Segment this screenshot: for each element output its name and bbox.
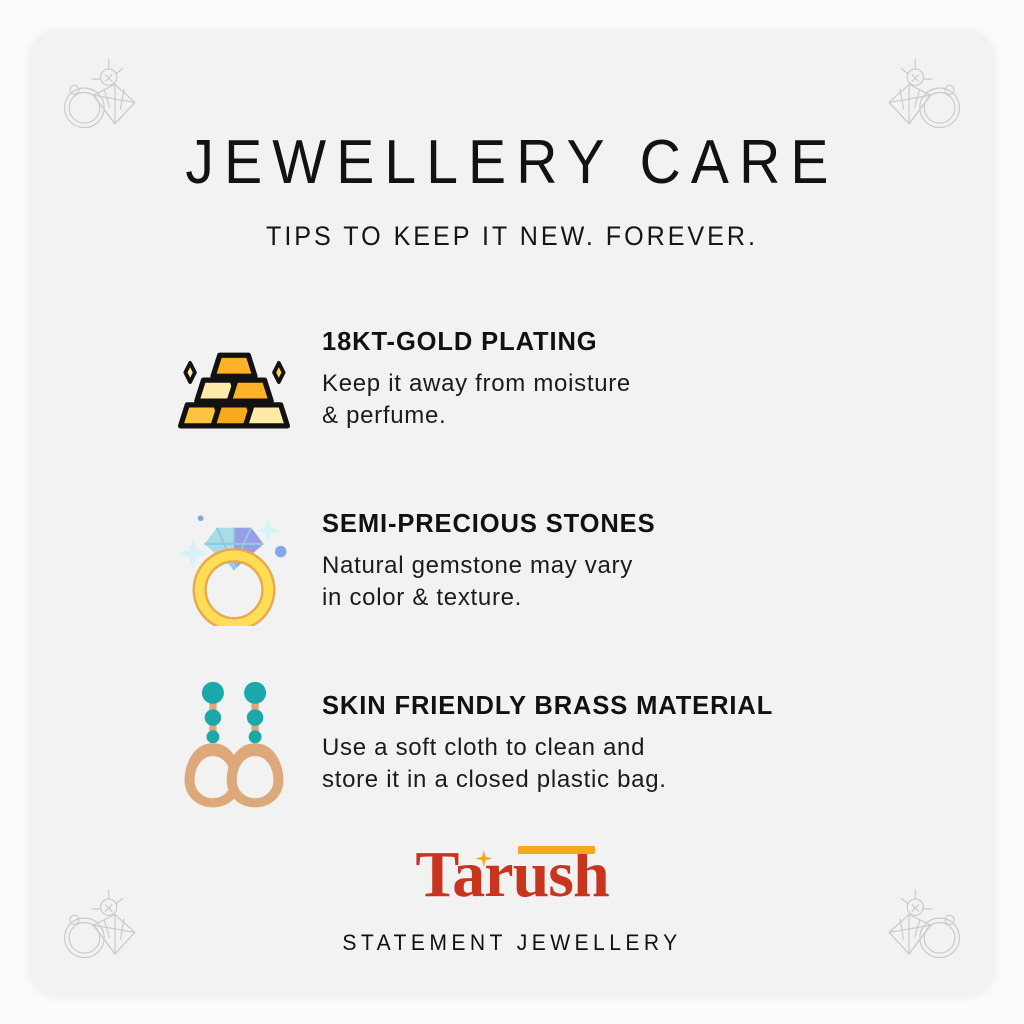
brand-tagline: STATEMENT JEWELLERY [49, 930, 974, 956]
brand-logo: Tarush [415, 842, 608, 908]
corner-ornament-top-left [52, 52, 142, 142]
corner-ornament-top-right [882, 52, 972, 142]
header: JEWELLERY CARE TIPS TO KEEP IT NEW. FORE… [30, 130, 994, 252]
list-item: 18KT-GOLD PLATING Keep it away from mois… [168, 322, 958, 442]
tips-list: 18KT-GOLD PLATING Keep it away from mois… [168, 322, 958, 868]
infographic-card: JEWELLERY CARE TIPS TO KEEP IT NEW. FORE… [30, 30, 994, 994]
footer: Tarush STATEMENT JEWELLERY [30, 842, 994, 956]
tip-text: SEMI-PRECIOUS STONES Natural gemstone ma… [300, 504, 656, 613]
tip-title: SKIN FRIENDLY BRASS MATERIAL [322, 692, 773, 721]
tip-body: Keep it away from moisture & perfume. [322, 368, 631, 431]
tip-text: 18KT-GOLD PLATING Keep it away from mois… [300, 322, 631, 431]
list-item: SKIN FRIENDLY BRASS MATERIAL Use a soft … [168, 686, 958, 806]
brand-accent-bar [518, 846, 595, 854]
tip-body: Natural gemstone may vary in color & tex… [322, 550, 656, 613]
page-subtitle: TIPS TO KEEP IT NEW. FOREVER. [64, 221, 961, 252]
tip-text: SKIN FRIENDLY BRASS MATERIAL Use a soft … [300, 686, 773, 795]
page-title: JEWELLERY CARE [69, 130, 956, 195]
gold-bars-icon [168, 322, 300, 442]
tip-title: 18KT-GOLD PLATING [322, 328, 631, 357]
gemstone-ring-icon [168, 504, 300, 624]
tip-body: Use a soft cloth to clean and store it i… [322, 732, 773, 795]
earrings-icon [168, 686, 300, 806]
list-item: SEMI-PRECIOUS STONES Natural gemstone ma… [168, 504, 958, 624]
tip-title: SEMI-PRECIOUS STONES [322, 510, 656, 539]
